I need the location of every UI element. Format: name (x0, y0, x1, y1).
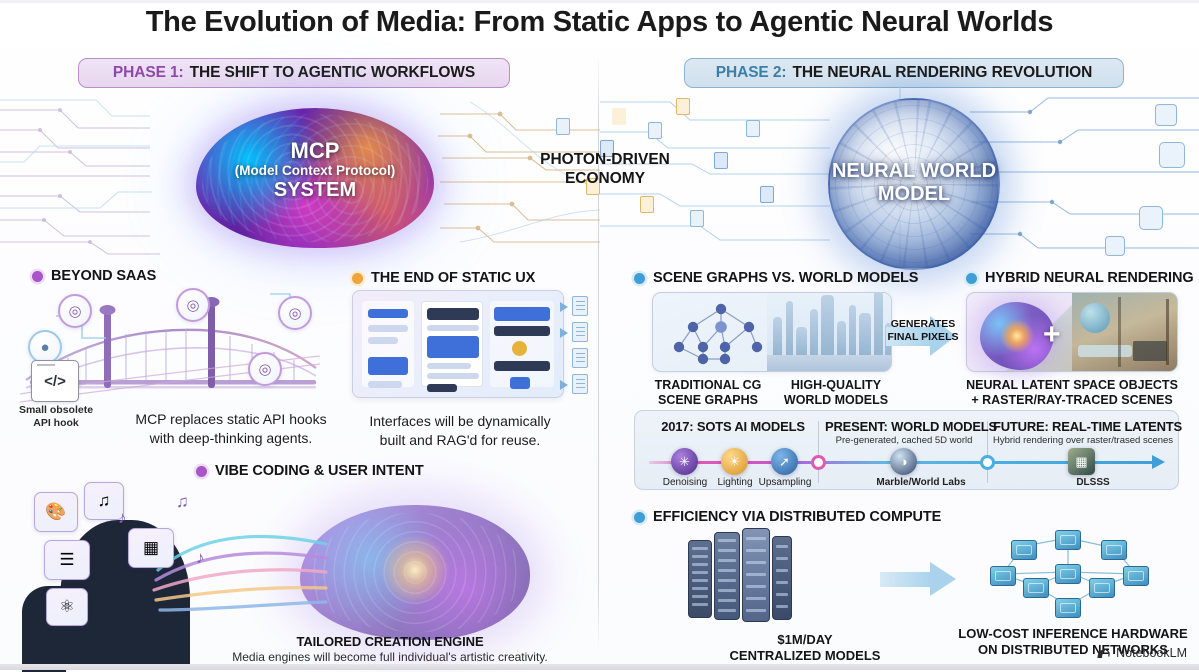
qr-chip-icon (1155, 104, 1177, 126)
bullet-dot-icon (352, 273, 363, 284)
inference-chip-icon (1101, 540, 1127, 560)
ui-mock-right-column (490, 301, 554, 387)
api-hook-caption-l1: Small obsolete (10, 404, 102, 417)
timeline-node-future (980, 455, 995, 470)
inference-chip-icon (990, 566, 1016, 586)
window-titlebar-dots-icon (37, 364, 55, 366)
dlsss-icon: ▦ (1068, 448, 1095, 475)
section-beyond-saas[interactable]: BEYOND SAAS (32, 268, 156, 284)
keyboard-tile-icon: ▦ (128, 528, 174, 568)
scene-graph-nodes-svg (663, 301, 781, 367)
inference-chip-icon (1055, 564, 1081, 584)
ui-mock-center-column (421, 301, 483, 387)
tailored-creation-caption: TAILORED CREATION ENGINE Media engines w… (180, 634, 600, 664)
timeline-stage-2-title: PRESENT: WORLD MODELS (825, 419, 983, 434)
efficiency-arrow-icon (880, 562, 958, 596)
world-model-city-graphic (767, 293, 891, 371)
static-ux-caption-l1: Interfaces will be dynamically (340, 412, 580, 431)
notebooklm-label: NotebookLM (1116, 646, 1187, 660)
tailored-creation-cloud-graphic (300, 505, 530, 640)
scene-graph-panel (652, 292, 892, 372)
denoising-icon: ✳ (671, 448, 698, 475)
inference-chip-icon (1055, 530, 1081, 550)
phase-1-number: PHASE 1: (113, 64, 184, 82)
inference-chip-icon (1011, 540, 1037, 560)
reusable-doc-icon (572, 348, 588, 368)
phase-1-label: THE SHIFT TO AGENTIC WORKFLOWS (190, 64, 475, 82)
section-beyond-saas-label: BEYOND SAAS (51, 268, 156, 284)
world-models-caption: HIGH-QUALITY WORLD MODELS (776, 378, 896, 408)
music-note-icon: ♪ (196, 548, 205, 568)
timeline-stage-3-header: FUTURE: REAL-TIME LATENTS Hybrid renderi… (993, 419, 1171, 446)
cloud-chip-icon (1105, 236, 1125, 256)
timeline-panel: 2017: SOTS AI MODELS ✳ ☀ ➚ Denoising Lig… (634, 410, 1179, 490)
timeline-stage-3-title: FUTURE: REAL-TIME LATENTS (993, 419, 1171, 434)
timeline-stage-1-header: 2017: SOTS AI MODELS (653, 419, 813, 435)
ui-mock-left-column (362, 301, 414, 387)
marble-world-labs-icon: ◑ (890, 448, 917, 475)
marble-world-labs-label: Marble/World Labs (843, 477, 999, 488)
bullet-dot-icon (634, 273, 645, 284)
dynamic-ui-mock (352, 290, 564, 398)
plus-combine-icon: + (1043, 320, 1061, 350)
static-ux-caption: Interfaces will be dynamically built and… (340, 412, 580, 450)
agent-node-icon: ● (28, 330, 62, 364)
raytraced-room-graphic (1072, 293, 1177, 371)
timeline-node-present (811, 455, 826, 470)
fingerprint-chip-icon (1159, 142, 1185, 168)
beyond-saas-caption-l2: with deep-thinking agents. (106, 429, 356, 448)
palette-tile-icon: 🎨 (34, 492, 78, 532)
generates-l1: GENERATES (880, 318, 966, 331)
section-scene-graphs[interactable]: SCENE GRAPHS VS. WORLD MODELS (634, 270, 918, 286)
section-vibe-coding[interactable]: VIBE CODING & USER INTENT (196, 463, 424, 479)
neural-world-label: NEURAL WORLD MODEL (818, 160, 1010, 206)
bullet-dot-icon (634, 512, 645, 523)
beyond-saas-caption: MCP replaces static API hooks with deep-… (106, 410, 356, 448)
phase-2-number: PHASE 2: (716, 64, 787, 82)
traditional-cg-l2: SCENE GRAPHS (648, 393, 768, 408)
bullet-dot-icon (32, 271, 43, 282)
flow-arrow-icon (560, 380, 568, 390)
phase-2-badge[interactable]: PHASE 2: THE NEURAL RENDERING REVOLUTION (684, 58, 1124, 88)
neural-world-line-1: NEURAL WORLD (818, 160, 1010, 183)
flow-arrow-icon (560, 302, 568, 312)
timeline-arrow-icon (1152, 455, 1165, 469)
neural-world-line-2: MODEL (818, 183, 1010, 206)
reusable-doc-icon (572, 322, 588, 342)
distributed-l1: LOW-COST INFERENCE HARDWARE (928, 626, 1199, 642)
centralized-l2: CENTRALIZED MODELS (660, 648, 950, 664)
creative-flow-swirls (150, 500, 330, 630)
bullet-dot-icon (196, 466, 207, 477)
hybrid-caption-l2: + RASTER/RAY-TRACED SCENES (950, 393, 1194, 408)
page-title: The Evolution of Media: From Static Apps… (0, 6, 1199, 39)
static-ux-caption-l2: built and RAG'd for reuse. (340, 431, 580, 450)
traditional-cg-l1: TRADITIONAL CG (648, 378, 768, 393)
timeline-separator (818, 421, 819, 483)
upsampling-icon: ➚ (771, 448, 798, 475)
flow-arrow-icon (560, 328, 568, 338)
agent-node-icon: ◎ (58, 294, 92, 328)
world-models-l2: WORLD MODELS (776, 393, 896, 408)
inference-chip-icon (1055, 598, 1081, 618)
api-hook-caption-l2: API hook (10, 417, 102, 430)
atom-tile-icon: ⚛ (46, 588, 88, 626)
music-note-icon: ♫ (176, 492, 189, 512)
notebooklm-attribution: NotebookLM (1096, 646, 1187, 660)
traditional-cg-caption: TRADITIONAL CG SCENE GRAPHS (648, 378, 768, 408)
inference-chip-icon (1023, 578, 1049, 598)
mcp-brain-label: MCP (Model Context Protocol) SYSTEM (196, 140, 434, 201)
mcp-title: MCP (196, 140, 434, 162)
section-scene-graphs-label: SCENE GRAPHS VS. WORLD MODELS (653, 270, 918, 286)
section-efficiency[interactable]: EFFICIENCY VIA DISTRIBUTED COMPUTE (634, 509, 941, 525)
centralized-models-caption: $1M/DAY CENTRALIZED MODELS (660, 632, 950, 664)
inference-chip-icon (1089, 578, 1115, 598)
hybrid-rendering-caption: NEURAL LATENT SPACE OBJECTS + RASTER/RAY… (950, 378, 1194, 408)
timeline-stage-1-title: 2017: SOTS AI MODELS (653, 419, 813, 434)
slider-tile-icon: ☰ (44, 540, 90, 580)
reusable-doc-icon (572, 296, 588, 316)
phase-1-badge[interactable]: PHASE 1: THE SHIFT TO AGENTIC WORKFLOWS (78, 58, 510, 88)
tailored-creation-title: TAILORED CREATION ENGINE (180, 634, 600, 649)
timeline-stage-2-sub: Pre-generated, cached 5D world (825, 435, 983, 446)
dlsss-label: DLSSS (1033, 477, 1153, 488)
bullet-dot-icon (966, 273, 977, 284)
code-glyph: </> (44, 373, 66, 390)
mcp-system-label: SYSTEM (196, 179, 434, 201)
agent-node-icon: ◎ (176, 288, 210, 322)
tailored-creation-sub: Media engines will become full individua… (180, 650, 600, 664)
section-end-of-static-ux[interactable]: THE END OF STATIC UX (352, 270, 535, 286)
section-hybrid-rendering-label: HYBRID NEURAL RENDERING (985, 270, 1194, 286)
timeline-stage-3-sub: Hybrid rendering over raster/trased scen… (993, 435, 1171, 446)
bottom-rule (0, 664, 1199, 670)
section-efficiency-label: EFFICIENCY VIA DISTRIBUTED COMPUTE (653, 509, 941, 525)
phase-2-label: THE NEURAL RENDERING REVOLUTION (792, 64, 1092, 82)
hybrid-caption-l1: NEURAL LATENT SPACE OBJECTS (950, 378, 1194, 393)
photon-line-2: ECONOMY (510, 169, 700, 188)
api-hook-box-icon: </> (31, 360, 79, 402)
inference-chip-icon (1123, 566, 1149, 586)
section-hybrid-rendering[interactable]: HYBRID NEURAL RENDERING (966, 270, 1194, 286)
music-note-icon: ♪ (118, 508, 127, 528)
lighting-icon: ☀ (721, 448, 748, 475)
agent-node-icon: ◎ (248, 352, 282, 386)
section-end-of-static-ux-label: THE END OF STATIC UX (371, 270, 535, 286)
world-models-l1: HIGH-QUALITY (776, 378, 896, 393)
top-rule (0, 0, 1199, 3)
notebooklm-logo-icon (1096, 647, 1111, 660)
api-hook-caption: Small obsolete API hook (10, 404, 102, 430)
section-vibe-coding-label: VIBE CODING & USER INTENT (215, 463, 424, 479)
brain-chip-icon (1139, 206, 1163, 230)
centralized-l1: $1M/DAY (660, 632, 950, 648)
reusable-doc-icon (572, 374, 588, 394)
timeline-stage-2-header: PRESENT: WORLD MODELS Pre-generated, cac… (825, 419, 983, 446)
beyond-saas-caption-l1: MCP replaces static API hooks (106, 410, 356, 429)
infographic-canvas: The Evolution of Media: From Static Apps… (0, 0, 1199, 670)
mcp-subtitle: (Model Context Protocol) (196, 162, 434, 179)
photon-economy-label: PHOTON-DRIVEN ECONOMY (510, 150, 700, 188)
generates-l2: FINAL PIXELS (880, 331, 966, 344)
photon-line-1: PHOTON-DRIVEN (510, 150, 700, 169)
generates-final-pixels-label: GENERATES FINAL PIXELS (880, 318, 966, 343)
agent-node-icon: ◎ (278, 296, 312, 330)
upsampling-label: Upsampling (749, 477, 821, 488)
